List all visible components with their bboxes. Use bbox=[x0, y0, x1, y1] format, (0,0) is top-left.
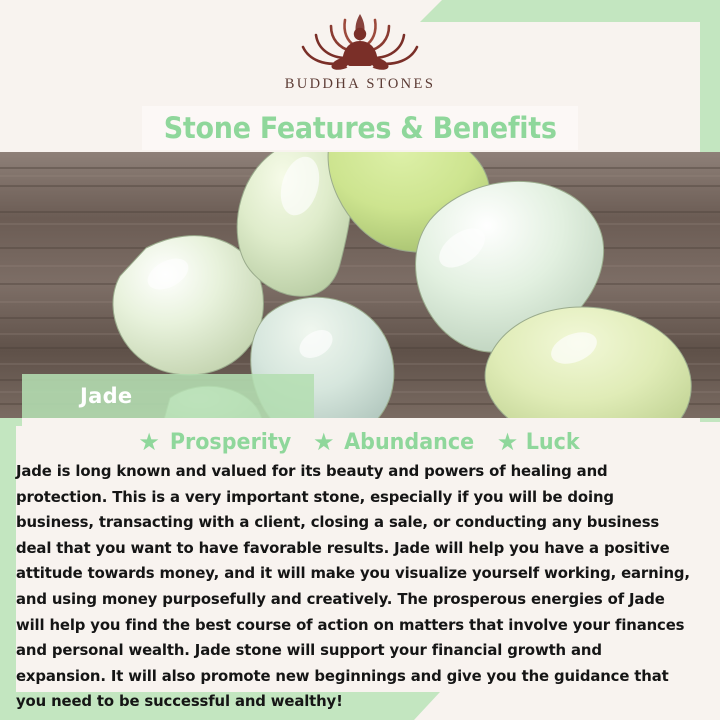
brand-logo: BUDDHA STONES bbox=[0, 8, 720, 108]
benefit-item: ★ Prosperity bbox=[138, 430, 295, 455]
benefit-label: Luck bbox=[526, 430, 580, 455]
benefit-label: Abundance bbox=[345, 430, 475, 455]
star-icon: ★ bbox=[138, 431, 160, 455]
benefit-label: Prosperity bbox=[170, 430, 291, 455]
star-icon: ★ bbox=[497, 431, 519, 455]
page-title: Stone Features & Benefits bbox=[164, 111, 557, 145]
stone-photo: Jade bbox=[0, 152, 720, 418]
stone-caption-band: Jade bbox=[22, 374, 314, 418]
stone-description: Jade is long known and valued for its be… bbox=[16, 459, 696, 715]
title-banner: Stone Features & Benefits bbox=[142, 106, 578, 150]
stone-caption: Jade bbox=[80, 384, 132, 408]
benefit-item: ★ Luck bbox=[497, 430, 582, 455]
brand-name: BUDDHA STONES bbox=[285, 76, 436, 93]
star-icon: ★ bbox=[313, 431, 335, 455]
benefit-item: ★ Abundance bbox=[313, 430, 479, 455]
benefits-row: ★ Prosperity ★ Abundance ★ Luck bbox=[0, 430, 720, 455]
stone-info-card: BUDDHA STONES Stone Features & Benefits bbox=[0, 0, 720, 720]
lotus-meditation-icon bbox=[285, 8, 435, 78]
